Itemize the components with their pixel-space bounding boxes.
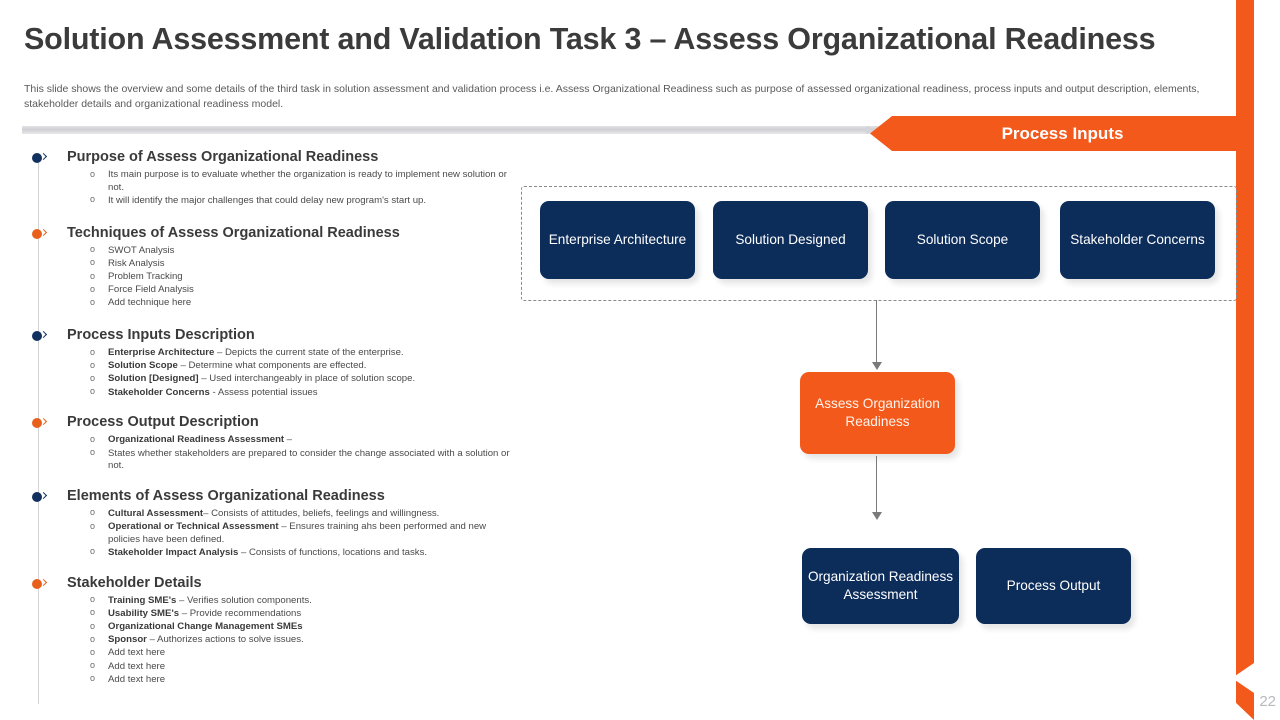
list-item: It will identify the major challenges th… <box>90 195 514 208</box>
list-item: Training SME's – Verifies solution compo… <box>90 595 514 608</box>
process-output-card: Process Output <box>976 548 1131 624</box>
list-item: Problem Tracking <box>90 271 514 284</box>
arrow-process-to-output-line <box>876 456 877 515</box>
chevron-right-icon <box>41 580 47 588</box>
content-section: Process Output DescriptionOrganizational… <box>24 413 514 473</box>
section-bullet-marker <box>32 228 46 240</box>
list-item: SWOT Analysis <box>90 245 514 258</box>
list-item: Force Field Analysis <box>90 284 514 297</box>
list-item: Sponsor – Authorizes actions to solve is… <box>90 634 514 647</box>
list-item-text: – <box>284 434 292 445</box>
page-title: Solution Assessment and Validation Task … <box>24 22 1234 57</box>
list-item-text: – Consists of functions, locations and t… <box>238 547 427 558</box>
list-item-text: – Verifies solution components. <box>176 595 311 606</box>
content-section: Stakeholder DetailsTraining SME's – Veri… <box>24 574 514 687</box>
arrow-process-to-output-head <box>872 512 882 520</box>
list-item: Add text here <box>90 647 514 660</box>
list-item: Cultural Assessment– Consists of attitud… <box>90 508 514 521</box>
process-inputs-banner-label: Process Inputs <box>984 124 1124 144</box>
assess-organization-readiness-card: Assess Organization Readiness <box>800 372 955 454</box>
chevron-right-icon <box>41 332 47 340</box>
process-input-card: Solution Scope <box>885 201 1040 279</box>
list-item-term: Organizational Change Management SMEs <box>108 621 303 632</box>
list-item-text: States whether stakeholders are prepared… <box>108 448 510 472</box>
list-item-text: - Assess potential issues <box>210 387 318 398</box>
content-section: Purpose of Assess Organizational Readine… <box>24 148 514 208</box>
list-item-term: Training SME's <box>108 595 176 606</box>
list-item: Add text here <box>90 661 514 674</box>
section-heading: Process Output Description <box>67 413 514 431</box>
list-item: Organizational Change Management SMEs <box>90 621 514 634</box>
list-item-text: – Provide recommendations <box>179 608 301 619</box>
arrow-inputs-to-process-head <box>872 362 882 370</box>
list-item: Stakeholder Impact Analysis – Consists o… <box>90 547 514 560</box>
content-sections: Purpose of Assess Organizational Readine… <box>24 148 514 708</box>
page-subtitle: This slide shows the overview and some d… <box>24 82 1222 112</box>
list-item-text: Add text here <box>108 661 165 672</box>
list-item: Operational or Technical Assessment – En… <box>90 521 514 546</box>
arrow-inputs-to-process-line <box>876 300 877 365</box>
list-item: Usability SME's – Provide recommendation… <box>90 608 514 621</box>
section-heading: Process Inputs Description <box>67 326 514 344</box>
list-item-term: Operational or Technical Assessment <box>108 521 279 532</box>
section-heading: Purpose of Assess Organizational Readine… <box>67 148 514 166</box>
list-item-text: Force Field Analysis <box>108 284 194 295</box>
section-bullet-list: Cultural Assessment– Consists of attitud… <box>90 508 514 560</box>
process-inputs-banner: Process Inputs <box>870 116 1237 151</box>
section-heading: Techniques of Assess Organizational Read… <box>67 224 514 242</box>
list-item-term: Solution Scope <box>108 360 178 371</box>
content-section: Techniques of Assess Organizational Read… <box>24 224 514 310</box>
list-item-text: – Authorizes actions to solve issues. <box>147 634 304 645</box>
chevron-right-icon <box>41 419 47 427</box>
list-item-term: Sponsor <box>108 634 147 645</box>
section-heading: Elements of Assess Organizational Readin… <box>67 487 514 505</box>
process-input-card: Enterprise Architecture <box>540 201 695 279</box>
list-item: Stakeholder Concerns - Assess potential … <box>90 387 514 400</box>
content-section: Elements of Assess Organizational Readin… <box>24 487 514 560</box>
list-item: States whether stakeholders are prepared… <box>90 448 514 473</box>
header-divider-bar <box>22 126 882 134</box>
list-item-text: Risk Analysis <box>108 258 165 269</box>
list-item: Its main purpose is to evaluate whether … <box>90 169 514 194</box>
list-item-text: – Consists of attitudes, beliefs, feelin… <box>203 508 439 519</box>
section-bullet-list: SWOT AnalysisRisk AnalysisProblem Tracki… <box>90 245 514 310</box>
list-item: Solution Scope – Determine what componen… <box>90 360 514 373</box>
list-item: Enterprise Architecture – Depicts the cu… <box>90 347 514 360</box>
list-item-text: – Used interchangeably in place of solut… <box>199 373 416 384</box>
section-bullet-list: Organizational Readiness Assessment –Sta… <box>90 434 514 472</box>
process-output-card: Organization Readiness Assessment <box>802 548 959 624</box>
list-item: Add text here <box>90 674 514 687</box>
section-bullet-list: Training SME's – Verifies solution compo… <box>90 595 514 687</box>
section-bullet-marker <box>32 578 46 590</box>
list-item-term: Organizational Readiness Assessment <box>108 434 284 445</box>
content-section: Process Inputs DescriptionEnterprise Arc… <box>24 326 514 399</box>
list-item-text: – Depicts the current state of the enter… <box>214 347 403 358</box>
chevron-right-icon <box>41 230 47 238</box>
list-item-text: Add text here <box>108 674 165 685</box>
slide-canvas: 22 Solution Assessment and Validation Ta… <box>0 0 1280 720</box>
list-item-text: Problem Tracking <box>108 271 183 282</box>
section-bullet-list: Enterprise Architecture – Depicts the cu… <box>90 347 514 399</box>
list-item-term: Stakeholder Impact Analysis <box>108 547 238 558</box>
chevron-right-icon <box>41 154 47 162</box>
section-bullet-marker <box>32 330 46 342</box>
list-item-term: Usability SME's <box>108 608 179 619</box>
list-item: Add technique here <box>90 297 514 310</box>
list-item: Solution [Designed] – Used interchangeab… <box>90 373 514 386</box>
process-flow-diagram: Enterprise ArchitectureSolution Designed… <box>515 180 1245 650</box>
list-item-term: Enterprise Architecture <box>108 347 214 358</box>
list-item-text: Add technique here <box>108 297 191 308</box>
section-bullet-marker <box>32 152 46 164</box>
section-bullet-marker <box>32 417 46 429</box>
process-input-card: Solution Designed <box>713 201 868 279</box>
list-item: Organizational Readiness Assessment – <box>90 434 514 447</box>
list-item-text: Add text here <box>108 647 165 658</box>
list-item-text: – Determine what components are effected… <box>178 360 367 371</box>
list-item-term: Solution [Designed] <box>108 373 199 384</box>
process-input-card: Stakeholder Concerns <box>1060 201 1215 279</box>
list-item: Risk Analysis <box>90 258 514 271</box>
section-bullet-list: Its main purpose is to evaluate whether … <box>90 169 514 207</box>
page-number: 22 <box>1259 693 1276 710</box>
chevron-right-icon <box>41 493 47 501</box>
list-item-text: SWOT Analysis <box>108 245 174 256</box>
list-item-term: Stakeholder Concerns <box>108 387 210 398</box>
section-bullet-marker <box>32 491 46 503</box>
section-heading: Stakeholder Details <box>67 574 514 592</box>
list-item-term: Cultural Assessment <box>108 508 203 519</box>
list-item-text: Its main purpose is to evaluate whether … <box>108 169 507 193</box>
list-item-text: It will identify the major challenges th… <box>108 195 426 206</box>
